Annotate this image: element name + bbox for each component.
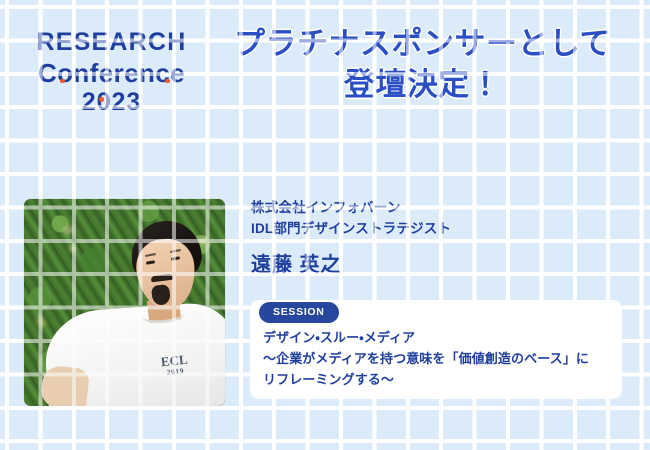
logo-orange-dot-icon: [165, 79, 170, 84]
banner-header: RESEARCH Conference 2023 プラチナスポンサーとして 登壇…: [0, 0, 650, 140]
bokeh-dot: [36, 317, 46, 327]
tshirt-print: ECL 2019: [151, 352, 200, 385]
speaker-name: 遠藤 英之: [251, 248, 451, 277]
research-conference-logo: RESEARCH Conference 2023: [24, 28, 199, 118]
speaker-portrait-photo: ECL 2019: [24, 199, 225, 406]
logo-orange-dot-icon: [99, 97, 104, 102]
session-title-line-2: 〜企業がメディアを持つ意味を「価値創造のベース」に: [263, 348, 633, 369]
bokeh-dot: [69, 245, 76, 252]
logo-year-text: 2023: [82, 88, 142, 116]
logo-line-year: 2023: [24, 88, 199, 118]
bokeh-dot: [199, 237, 207, 245]
speaker-company: 株式会社インフォバーン: [251, 198, 451, 219]
bokeh-dot: [64, 226, 73, 235]
logo-conference-text: Conference: [38, 58, 185, 88]
headline: プラチナスポンサーとして 登壇決定！: [205, 24, 640, 106]
speaker-info: 株式会社インフォバーン IDL部門デザインストラテジスト 遠藤 英之: [251, 198, 451, 277]
conference-banner: RESEARCH Conference 2023 プラチナスポンサーとして 登壇…: [0, 0, 650, 450]
session-title-line-3: リフレーミングする〜: [263, 369, 633, 390]
headline-line-2: 登壇決定！: [205, 65, 640, 106]
session-badge: SESSION: [259, 302, 339, 323]
speaker-role: IDL部門デザインストラテジスト: [251, 219, 451, 240]
logo-orange-dot-icon: [60, 79, 65, 84]
logo-line-research: RESEARCH: [24, 28, 199, 58]
logo-line-conference: Conference: [24, 58, 199, 89]
left-arm: [40, 365, 90, 406]
session-title: デザイン・スルー・メディア 〜企業がメディアを持つ意味を「価値創造のベース」に …: [263, 327, 633, 390]
session-title-line-1: デザイン・スルー・メディア: [263, 327, 633, 348]
headline-line-1: プラチナスポンサーとして: [234, 26, 611, 61]
